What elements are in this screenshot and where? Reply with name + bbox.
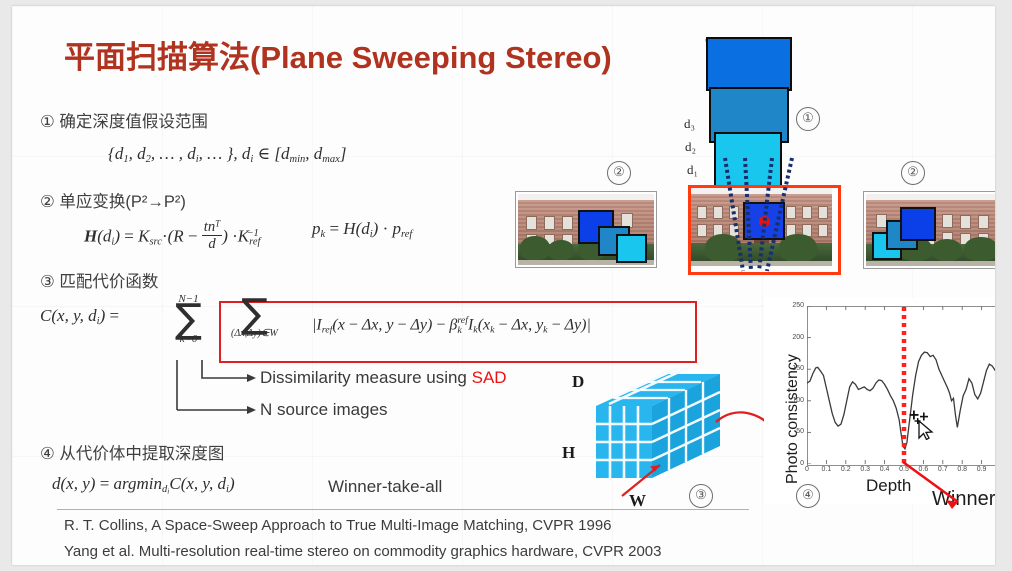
- formula-homography: H(di) = Ksrc·(R − tnTd) ·Kref−1: [84, 219, 259, 253]
- formula-cost-inner-sum: ∑ (Δx,Δy)∈W: [231, 300, 278, 341]
- formula-cost-outer-sum: N−1 ∑ k=0: [175, 294, 202, 347]
- plot-x-tick-label: 0.2: [836, 466, 856, 473]
- plot-y-tick-label: 250: [785, 302, 804, 309]
- mouse-cursor: [908, 410, 936, 440]
- source-image-right-frame: [863, 191, 995, 269]
- plot-x-tick-label: 1: [991, 466, 995, 473]
- depth-plane-d3: [706, 37, 792, 91]
- warped-patch-d3-right: [900, 207, 936, 241]
- plot-y-tick-label: 100: [785, 397, 804, 404]
- formula-cost-lhs: C(x, y, di) =: [40, 306, 119, 327]
- figure-marker-4: ④: [796, 484, 820, 508]
- screenshot-root: 平面扫描算法(Plane Sweeping Stereo) ① 确定深度值假设范…: [0, 0, 1012, 571]
- figure-marker-1: ①: [796, 107, 820, 131]
- plot-x-tick-label: 0.3: [855, 466, 875, 473]
- plot-winner-marker-line: [807, 304, 995, 467]
- annotation-dissimilarity-text: Dissimilarity measure using: [260, 368, 472, 387]
- plot-x-tick-label: 0.1: [816, 466, 836, 473]
- cost-volume-label-width: W: [629, 491, 646, 511]
- plot-y-tick-label: 200: [785, 334, 804, 341]
- annotation-dissimilarity: Dissimilarity measure using SAD: [260, 368, 507, 388]
- page-title: 平面扫描算法(Plane Sweeping Stereo): [64, 32, 612, 77]
- step-4-heading: ④ 从代价体中提取深度图: [40, 440, 224, 464]
- figure-marker-2-left: ②: [607, 161, 631, 185]
- depth-plane-label-d2: d₂: [685, 139, 696, 155]
- step-2-heading: ② 单应变换(P²→P²): [40, 188, 186, 212]
- winner-arrow: [900, 460, 975, 512]
- cost-volume-label-height: H: [562, 443, 575, 463]
- formula-point-transfer: pk = H(di) · pref: [312, 219, 412, 240]
- source-image-left-frame: [515, 191, 657, 268]
- slide: 平面扫描算法(Plane Sweeping Stereo) ① 确定深度值假设范…: [12, 6, 995, 565]
- annotation-winner-take-all: Winner-take-all: [328, 477, 442, 497]
- reference-1: R. T. Collins, A Space-Sweep Approach to…: [64, 517, 612, 534]
- step-3-heading: ③ 匹配代价函数: [40, 268, 158, 292]
- plot-y-tick-label: 150: [785, 365, 804, 372]
- figure-marker-2-right: ②: [901, 161, 925, 185]
- plot-y-tick-label: 50: [785, 428, 804, 435]
- step-1-heading: ① 确定深度值假设范围: [40, 108, 208, 132]
- annotation-sad-label: SAD: [472, 368, 507, 387]
- formula-argmin: d(x, y) = argmindiC(x, y, di): [52, 474, 235, 495]
- cost-volume-label-depth: D: [572, 372, 584, 392]
- depth-plane-label-d3: d₃: [684, 116, 695, 132]
- annotation-n-source-images: N source images: [260, 400, 388, 420]
- formula-depth-range: {d1, d2, … , di, … }, di ∈ [dmin, dmax]: [108, 144, 346, 165]
- warped-patch-d1-left: [616, 234, 647, 263]
- reference-2: Yang et al. Multi-resolution real-time s…: [64, 543, 662, 560]
- figure-marker-3: ③: [689, 484, 713, 508]
- plot-x-tick-label: 0: [797, 466, 817, 473]
- plot-x-tick-label: 0.4: [875, 466, 895, 473]
- formula-cost-body: |Iref(x − Δx, y − Δy) − β refkIk(xk − Δx…: [312, 316, 591, 336]
